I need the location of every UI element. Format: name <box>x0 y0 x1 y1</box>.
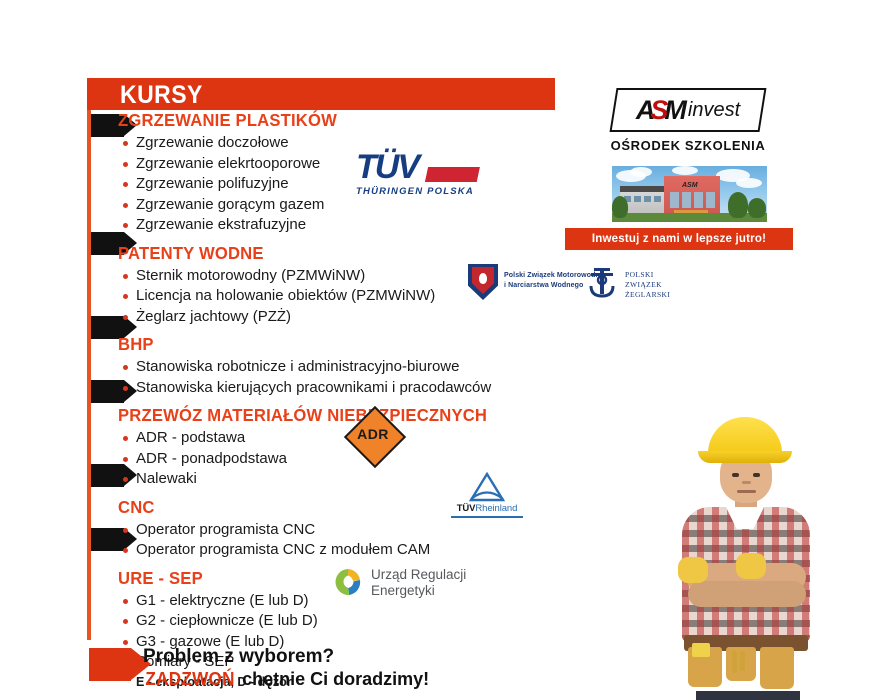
building-sign: ASM <box>682 182 698 189</box>
worker-arm-lower <box>688 581 806 607</box>
poster-canvas: KURSY ZGRZEWANIE PLASTIKÓW Zgrzewanie do… <box>0 0 871 700</box>
list-item[interactable]: Żeglarz jachtowy (PZŻ) <box>118 307 578 328</box>
asm-logo-frame: ASMinvest <box>610 88 767 132</box>
list-item[interactable]: Zgrzewanie elekrtooporowe <box>118 154 578 175</box>
tuv-thuringen-logo: TÜV THÜRINGEN POLSKA <box>356 150 481 205</box>
shield-icon <box>468 264 498 300</box>
pzmwinw-line2: i Narciarstwa Wodnego <box>504 282 583 289</box>
tuv-rheinland-logo: TÜVRheinland <box>448 472 526 520</box>
pzz-line3: ŻEGLARSKI <box>625 290 670 299</box>
polish-flag-icon <box>425 152 483 182</box>
left-vertical-rule <box>87 110 91 640</box>
course-section-bhp: BHP Stanowiska robotnicze i administracy… <box>118 334 578 398</box>
course-sections: ZGRZEWANIE PLASTIKÓW Zgrzewanie doczołow… <box>118 110 578 697</box>
list-item[interactable]: G2 - ciepłownicze (E lub D) <box>118 611 578 632</box>
slogan-text: Inwestuj z nami w lepsze jutro! <box>592 233 766 245</box>
course-list-cnc: Operator programista CNC Operator progra… <box>118 520 578 561</box>
adr-label: ADR <box>345 426 401 442</box>
cta-call-rest: chętnie Ci doradzimy! <box>237 669 429 689</box>
worker-pouch-right <box>760 647 794 689</box>
list-item[interactable]: Zgrzewanie ekstrafuzyjne <box>118 215 578 236</box>
pliers-icon <box>740 651 745 671</box>
list-item[interactable]: Operator programista CNC z modułem CAM <box>118 540 578 561</box>
ure-label: Urząd Regulacji Energetyki <box>371 567 466 599</box>
ure-circle-icon <box>333 567 363 597</box>
cta-headline: Problem z wyborem? <box>143 645 429 668</box>
course-section-zgrzewanie: ZGRZEWANIE PLASTIKÓW Zgrzewanie doczołow… <box>118 110 578 236</box>
screwdriver-icon <box>732 651 737 673</box>
ure-logo: Urząd Regulacji Energetyki <box>333 565 508 605</box>
list-item[interactable]: Stanowiska robotnicze i administracyjno-… <box>118 357 578 378</box>
asm-subtitle: OŚRODEK SZKOLENIA <box>598 138 778 153</box>
pzz-line2: ZWIĄZEK <box>625 280 662 289</box>
list-item[interactable]: Zgrzewanie polifuzyjne <box>118 174 578 195</box>
section-title-zgrzewanie: ZGRZEWANIE PLASTIKÓW <box>118 110 555 131</box>
list-item[interactable]: Zgrzewanie gorącym gazem <box>118 195 578 216</box>
cta-arrow-marker <box>89 648 131 681</box>
section-title-bhp: BHP <box>118 334 555 355</box>
worker-glove-left <box>678 557 708 583</box>
asm-letter-s: S <box>650 95 667 126</box>
cta-block: Problem z wyborem? ZADZWOŃ chętnie Ci do… <box>143 645 429 691</box>
cta-call-word[interactable]: ZADZWOŃ <box>145 668 234 691</box>
tuv-rheinland-triangle-icon <box>466 472 508 502</box>
cta-subline: ZADZWOŃ chętnie Ci doradzimy! <box>143 668 429 691</box>
pzz-label: POLSKI ZWIĄZEK ŻEGLARSKI <box>625 270 670 300</box>
header-bar: KURSY <box>87 78 555 110</box>
list-item[interactable]: Stanowiska kierujących pracownikami i pr… <box>118 378 578 399</box>
list-item[interactable]: Operator programista CNC <box>118 520 578 541</box>
tuv-rheinland-name: Rheinland <box>475 503 517 514</box>
adr-diamond-icon: ADR <box>345 407 401 463</box>
page-title: KURSY <box>120 82 203 108</box>
ure-line1: Urząd Regulacji <box>371 567 466 582</box>
pzz-logo: POLSKI ZWIĄZEK ŻEGLARSKI <box>585 262 670 304</box>
hard-hat-brim <box>698 451 792 463</box>
list-item[interactable]: Zgrzewanie doczołowe <box>118 133 578 154</box>
tape-measure-icon <box>692 643 710 657</box>
section-title-patenty-wodne: PATENTY WODNE <box>118 243 555 264</box>
tuv-rheinland-wordmark: TÜVRheinland <box>448 503 526 514</box>
worker-photo <box>640 395 871 700</box>
course-list-bhp: Stanowiska robotnicze i administracyjno-… <box>118 357 578 398</box>
ure-line2: Energetyki <box>371 583 435 598</box>
worker-pants <box>696 691 800 700</box>
asm-letter-m: M <box>664 95 686 126</box>
section-title-przewoz: PRZEWÓZ MATERIAŁÓW NIEBEZPIECZNYCH <box>118 405 555 426</box>
tuv-thuringen-subtitle: THÜRINGEN POLSKA <box>356 186 481 197</box>
pzz-line1: POLSKI <box>625 270 654 279</box>
anchor-icon <box>585 264 619 300</box>
slogan-banner: Inwestuj z nami w lepsze jutro! <box>565 228 793 250</box>
building-photo: ASM <box>612 166 767 222</box>
worker-glove-right <box>736 553 766 579</box>
tuv-rheinland-tuv: TÜV <box>457 503 476 514</box>
asm-invest-logo: ASMinvest OŚRODEK SZKOLENIA <box>598 88 778 153</box>
course-list-zgrzewanie: Zgrzewanie doczołowe Zgrzewanie elekrtoo… <box>118 133 578 236</box>
asm-invest-word: invest <box>688 99 740 122</box>
